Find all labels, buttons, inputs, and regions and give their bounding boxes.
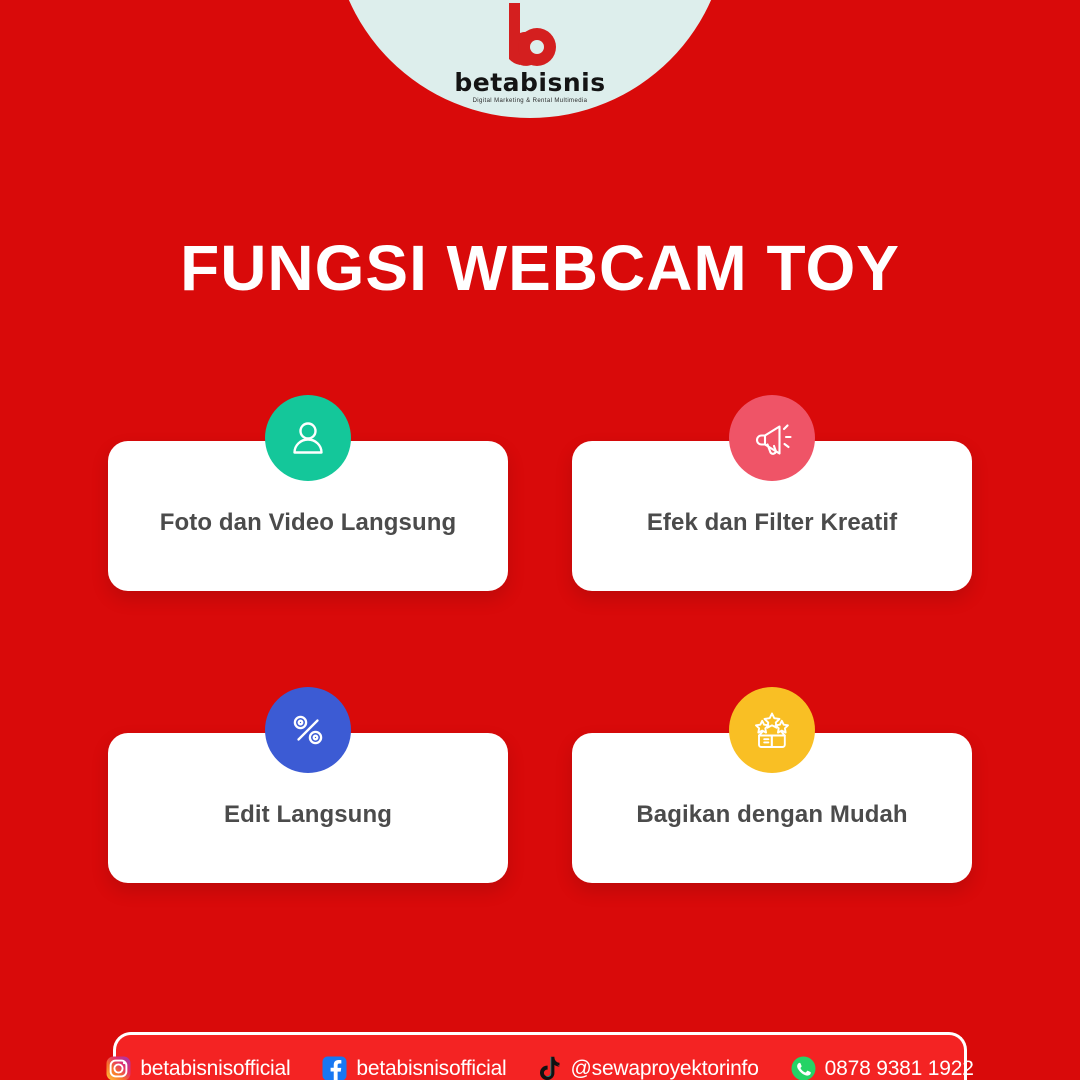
footer-social-bar: betabisnisofficial betabisnisofficial @s…: [113, 1032, 967, 1080]
social-handle-whatsapp: 0878 9381 1922: [825, 1057, 974, 1080]
page-title: FUNGSI WEBCAM TOY: [0, 231, 1080, 305]
brand-tagline: Digital Marketing & Rental Multimedia: [473, 98, 588, 104]
social-item-whatsapp[interactable]: 0878 9381 1922: [775, 1056, 990, 1080]
tiktok-icon: [539, 1056, 562, 1080]
brand-logo-block: betabisnis Digital Marketing & Rental Mu…: [454, 1, 605, 104]
feature-label-4: Bagikan dengan Mudah: [616, 801, 927, 829]
social-handle-instagram: betabisnisofficial: [140, 1057, 290, 1080]
feature-icon-badge-4: [729, 687, 815, 773]
feature-label-2: Efek dan Filter Kreatif: [627, 509, 917, 537]
feature-label-1: Foto dan Video Langsung: [140, 509, 477, 537]
instagram-icon: [106, 1056, 131, 1080]
whatsapp-icon: [791, 1056, 816, 1080]
megaphone-icon: [750, 416, 794, 460]
poster-canvas: betabisnis Digital Marketing & Rental Mu…: [0, 0, 1080, 1080]
feature-item-bagikan-mudah[interactable]: Bagikan dengan Mudah: [572, 687, 972, 883]
feature-label-3: Edit Langsung: [204, 801, 412, 829]
feature-item-edit-langsung[interactable]: Edit Langsung: [108, 687, 508, 883]
feature-item-efek-filter[interactable]: Efek dan Filter Kreatif: [572, 395, 972, 591]
social-item-facebook[interactable]: betabisnisofficial: [306, 1056, 522, 1080]
feature-icon-badge-3: [265, 687, 351, 773]
percent-discount-icon: [287, 709, 329, 751]
social-handle-facebook: betabisnisofficial: [356, 1057, 506, 1080]
brand-name: betabisnis: [454, 70, 605, 95]
feature-row-top: Foto dan Video Langsung Efek dan Filter: [108, 395, 972, 591]
feature-icon-badge-2: [729, 395, 815, 481]
feature-grid: Foto dan Video Langsung Efek dan Filter: [108, 395, 972, 883]
feature-icon-badge-1: [265, 395, 351, 481]
user-person-icon: [287, 417, 329, 459]
top-banner-arc: betabisnis Digital Marketing & Rental Mu…: [332, 0, 728, 118]
social-item-tiktok[interactable]: @sewaproyektorinfo: [523, 1056, 775, 1080]
box-with-stars-icon: [750, 708, 794, 752]
feature-item-foto-video[interactable]: Foto dan Video Langsung: [108, 395, 508, 591]
social-handle-tiktok: @sewaproyektorinfo: [571, 1057, 759, 1080]
facebook-icon: [322, 1056, 347, 1080]
social-item-instagram[interactable]: betabisnisofficial: [90, 1056, 306, 1080]
feature-row-bottom: Edit Langsung Bagikan deng: [108, 687, 972, 883]
betabisnis-b-logo-icon: [499, 1, 561, 69]
